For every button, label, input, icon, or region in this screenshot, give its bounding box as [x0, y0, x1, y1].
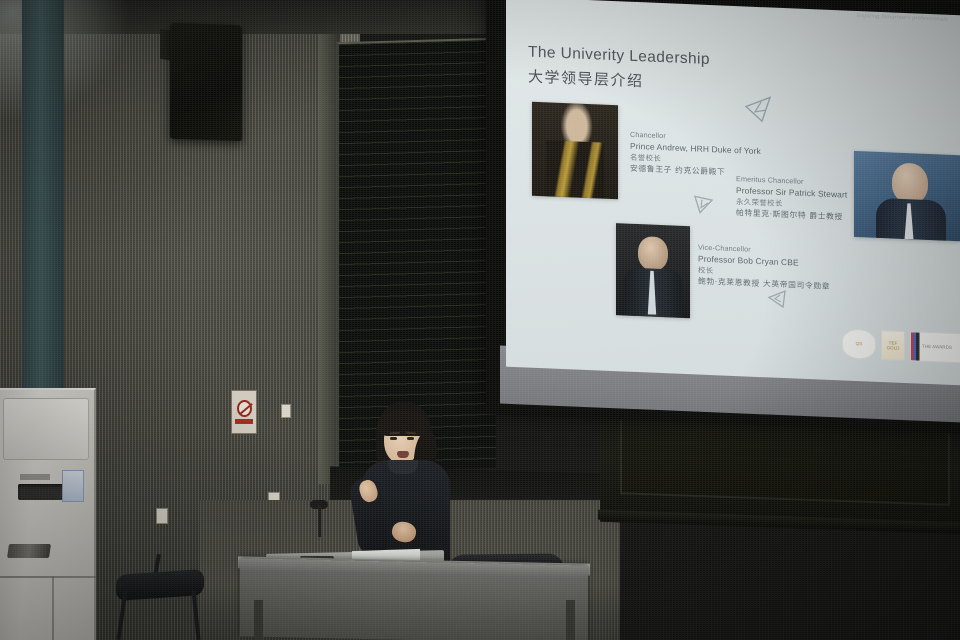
ac-badge	[20, 474, 50, 480]
person-block-emeritus: Emeritus Chancellor Professor Sir Patric…	[736, 174, 847, 223]
curtain	[22, 0, 64, 420]
folding-chair	[108, 568, 212, 640]
presenter-eye	[407, 437, 414, 440]
ac-panel-seam	[0, 576, 96, 578]
table-leg	[566, 600, 575, 640]
table-leg	[254, 600, 263, 640]
presenter-collar	[388, 460, 418, 474]
air-conditioner	[0, 388, 96, 640]
no-smoking-sign-icon	[231, 390, 257, 434]
presenter-fringe	[378, 410, 428, 436]
portrait-chancellor	[532, 102, 618, 200]
window-light-haze	[0, 0, 130, 120]
presenter-mouth	[397, 451, 409, 458]
vice-head	[638, 236, 668, 271]
presenter-eye	[390, 437, 397, 440]
ac-brand-logo	[7, 544, 51, 558]
person-block-chancellor: Chancellor Prince Andrew, HRH Duke of Yo…	[630, 130, 761, 180]
award-logo-row: QS TEF GOLD THE AWARDS University of the…	[842, 328, 960, 367]
portrait-emeritus-chancellor	[854, 151, 960, 241]
award-logo: QS	[842, 328, 876, 359]
ac-top-panel	[3, 398, 89, 460]
slide-title-en: The Univerity Leadership	[528, 44, 710, 69]
ceiling-speaker-icon	[170, 23, 242, 142]
no-smoking-circle	[237, 400, 252, 417]
chair-seat	[116, 569, 204, 601]
wall-switch	[281, 404, 291, 418]
triangle-arrow-icon	[744, 94, 774, 123]
wall-outlet	[156, 508, 168, 524]
lecture-table	[240, 558, 588, 640]
chair-leg	[191, 590, 200, 640]
award-logo: THE AWARDS	[910, 331, 960, 363]
chancellor-robe	[546, 140, 604, 198]
projected-slide: The Univerity Leadership 大学领导层介绍 Inspiri…	[506, 0, 960, 385]
portrait-vice-chancellor	[616, 223, 690, 318]
ac-energy-sticker	[62, 470, 84, 502]
microphone-stand	[318, 505, 321, 537]
triangle-arrow-icon	[764, 285, 788, 310]
triangle-arrow-icon	[692, 190, 716, 215]
lecture-room-photo: The Univerity Leadership 大学领导层介绍 Inspiri…	[0, 0, 960, 640]
brand-tagline: Inspiring tomorrow's professionals	[856, 13, 948, 23]
ac-panel-seam	[52, 576, 54, 640]
award-logo: TEF GOLD	[881, 330, 905, 361]
slide-title-cn: 大学领导层介绍	[528, 66, 644, 92]
no-smoking-label-bar	[235, 419, 253, 424]
university-brand-logo: Inspiring tomorrow's professionals	[856, 13, 948, 23]
